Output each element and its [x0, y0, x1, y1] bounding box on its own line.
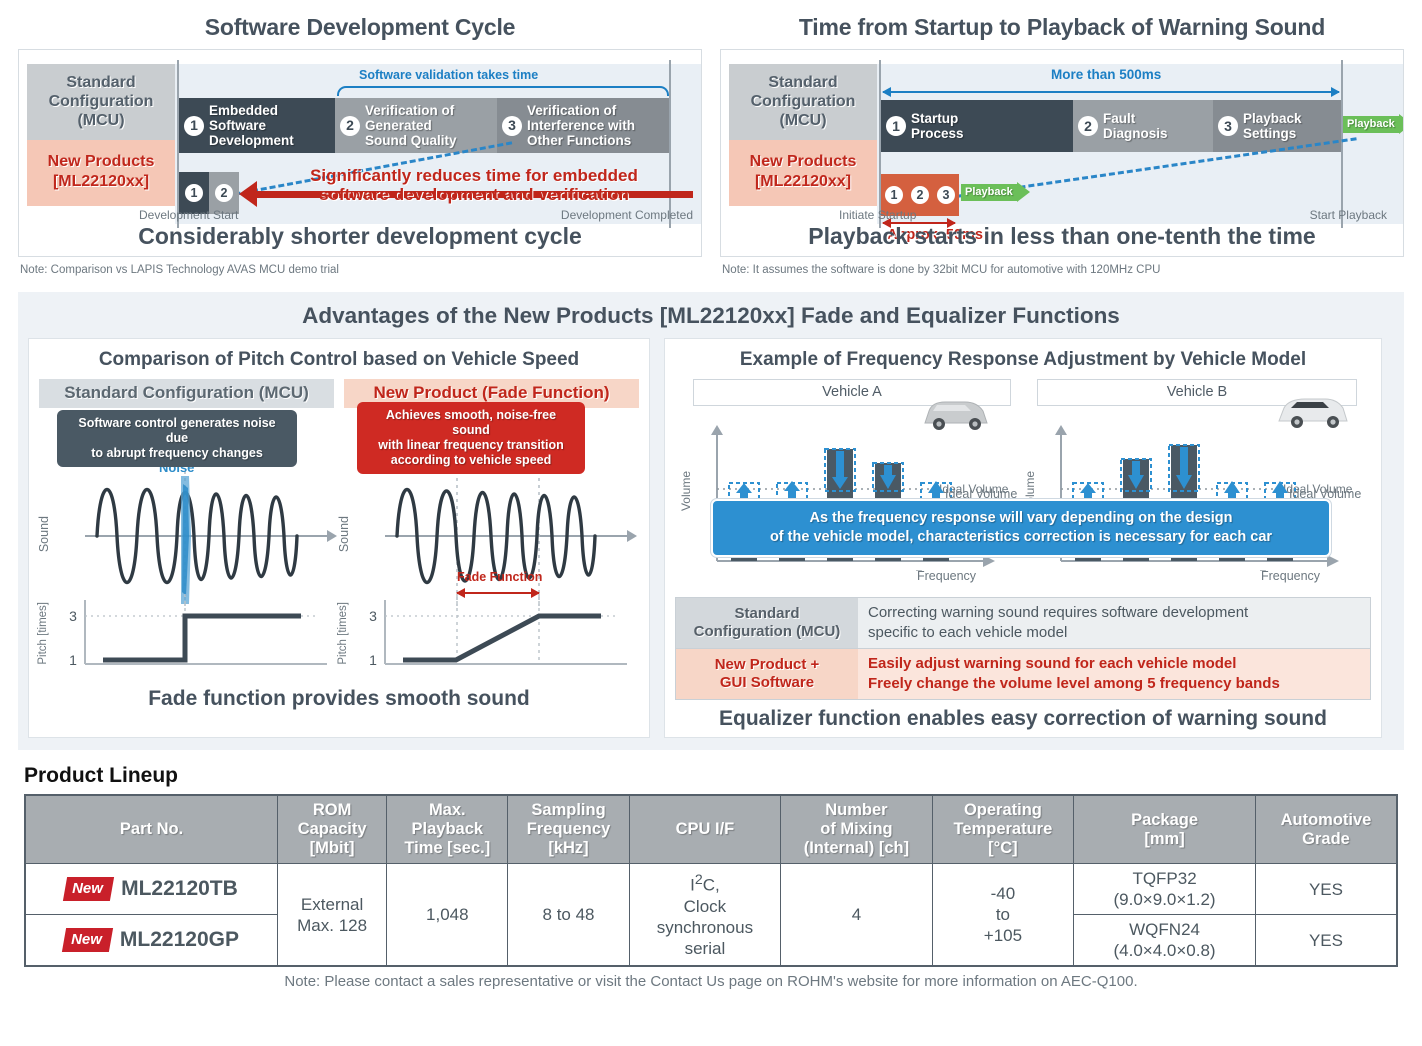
axis-label-frequency-a: Frequency [917, 569, 976, 583]
row-labels: Standard Configuration (MCU) New Product… [27, 64, 175, 206]
row-label-standard-2: Standard Configuration (MCU) [729, 64, 877, 140]
row-label-new-line2: [ML22120xx] [29, 172, 173, 192]
pitch-chart-fade: 3 1 [339, 594, 639, 680]
table-row-standard: Standard Configuration (MCU) Correcting … [676, 598, 1370, 649]
row-label-standard-eq: Standard Configuration (MCU) [676, 598, 858, 648]
table-header-row: Part No. ROM Capacity [Mbit] Max. Playba… [25, 795, 1397, 864]
software-development-cycle-panel: Software Development Cycle Standard Conf… [18, 14, 702, 276]
playback-arrow-standard: Playback [1343, 114, 1404, 134]
row-text-new-eq: Easily adjust warning sound for each veh… [858, 649, 1370, 699]
playback-label-standard: Playback [1343, 116, 1399, 133]
new-startup-number-2: 2 [911, 186, 929, 204]
axis-label-pitch-standard: Pitch [times] [37, 602, 49, 670]
phase-number-1: 1 [184, 116, 204, 136]
startup-number-1: 1 [886, 116, 906, 136]
playback-label-new: Playback [961, 184, 1017, 201]
equalizer-subtitle: Example of Frequency Response Adjustment… [675, 349, 1371, 371]
col-header-rom-capacity: ROM Capacity [Mbit] [278, 795, 387, 864]
col-header-number-of-mixing: Number of Mixing (Internal) [ch] [781, 795, 933, 864]
col-header-operating-temperature: Operating Temperature [°C] [932, 795, 1073, 864]
panel-caption-startup: Playback starts in less than one-tenth t… [721, 223, 1403, 250]
axis-label-volume-a: Volume [679, 471, 693, 516]
part-number-1: ML22120TB [121, 877, 238, 900]
row-label-standard-line2: Configuration [29, 92, 173, 111]
new-startup-block-3: 3 [933, 174, 959, 216]
row-label-new-products-2: New Products [ML22120xx] [729, 140, 877, 206]
reduction-arrow-head [239, 181, 257, 207]
part-number-2: ML22120GP [120, 928, 239, 951]
callout-standard-noise: Software control generates noise due to … [57, 410, 297, 467]
row-label-standard-line1: Standard [29, 73, 173, 92]
cell-rom-capacity: External Max. 128 [278, 864, 387, 967]
col-header-cpu-if: CPU I/F [629, 795, 781, 864]
pitch-chart-standard: 3 1 [39, 594, 339, 680]
col-header-part-no: Part No. [25, 795, 278, 864]
phase-block-2: 2 Verification of Generated Sound Qualit… [335, 98, 497, 153]
cell-max-playback-time: 1,048 [387, 864, 508, 967]
new-startup-number-3: 3 [937, 186, 955, 204]
validation-brace [337, 86, 669, 96]
row-label-new-line1: New Products [29, 152, 173, 172]
playback-guideline [1341, 60, 1343, 228]
axis-label-frequency-b: Frequency [1261, 569, 1320, 583]
startup-number-2: 2 [1078, 116, 1098, 136]
cell-sampling-frequency: 8 to 48 [508, 864, 629, 967]
startup-to-playback-panel: Time from Startup to Playback of Warning… [720, 14, 1404, 276]
phase-block-3: 3 Verification of Interference with Othe… [497, 98, 669, 153]
new-badge-1: New [63, 877, 114, 901]
callout-frequency-response: As the frequency response will vary depe… [711, 499, 1331, 557]
panel-note-startup: Note: It assumes the software is done by… [720, 264, 1404, 276]
svg-text:1: 1 [369, 652, 377, 668]
equalizer-charts-area: Vehicle A Ideal Volume [675, 379, 1371, 591]
cell-part-no-2: NewML22120GP [25, 915, 278, 967]
axis-label-pitch-fade: Pitch [times] [337, 602, 349, 670]
panel-caption-dev-cycle: Considerably shorter development cycle [19, 223, 701, 250]
startup-block-2: 2 Fault Diagnosis [1073, 100, 1213, 152]
row-label-new-products: New Products [ML22120xx] [27, 140, 175, 206]
equalizer-panel-caption: Equalizer function enables easy correcti… [675, 707, 1371, 731]
startup-label-2: Fault Diagnosis [1103, 111, 1168, 141]
sound-waveform-fade [339, 458, 639, 608]
svg-text:1: 1 [69, 652, 77, 668]
advantages-title: Advantages of the New Products [ML22120x… [28, 303, 1394, 329]
startup-number-3: 3 [1218, 116, 1238, 136]
pitch-charts-area: Sound Noise Software control generates n… [39, 412, 639, 680]
axis-label-dev-completed: Development Completed [561, 208, 693, 222]
new-badge-2: New [62, 928, 113, 952]
new-startup-number-1: 1 [885, 186, 903, 204]
panel-title-2: Time from Startup to Playback of Warning… [720, 14, 1404, 41]
row-labels-2: Standard Configuration (MCU) New Product… [729, 64, 877, 206]
phase-number-2: 2 [340, 116, 360, 136]
cell-operating-temperature: -40 to +105 [932, 864, 1073, 967]
startup-label-1: Startup Process [911, 111, 964, 141]
equalizer-panel: Example of Frequency Response Adjustment… [664, 338, 1382, 738]
phase-number-3: 3 [502, 116, 522, 136]
advantages-section: Advantages of the New Products [ML22120x… [18, 292, 1404, 750]
table-row-new-product: New Product + GUI Software Easily adjust… [676, 649, 1370, 699]
phase-block-1: 1 Embedded Software Development [179, 98, 335, 153]
pitch-control-panel: Comparison of Pitch Control based on Veh… [28, 338, 650, 738]
col-header-max-playback-time: Max. Playback Time [sec.] [387, 795, 508, 864]
phase-label-1: Embedded Software Development [209, 103, 294, 148]
timeline-chart-startup: Standard Configuration (MCU) New Product… [720, 49, 1404, 257]
axis-label-start-playback: Start Playback [1310, 208, 1387, 222]
new-phase-number-2: 2 [215, 184, 233, 202]
lineup-footer-note: Note: Please contact a sales representat… [0, 973, 1422, 990]
equalizer-comparison-table: Standard Configuration (MCU) Correcting … [675, 597, 1371, 700]
callout-new-fade: Achieves smooth, noise-free sound with l… [357, 402, 585, 474]
timeline-chart-dev-cycle: Standard Configuration (MCU) New Product… [18, 49, 702, 257]
cell-package-2: WQFN24 (4.0×4.0×0.8) [1074, 915, 1256, 967]
col-header-sampling-frequency: Sampling Frequency [kHz] [508, 795, 629, 864]
row-label-standard: Standard Configuration (MCU) [27, 64, 175, 140]
playback-arrow-head-new [1017, 182, 1030, 202]
new-phase-number-1: 1 [185, 184, 203, 202]
cell-number-of-mixing: 4 [781, 864, 933, 967]
svg-text:3: 3 [69, 608, 77, 624]
validation-brace-label: Software validation takes time [359, 68, 538, 82]
col-header-package: Package [mm] [1074, 795, 1256, 864]
product-lineup-title: Product Lineup [24, 764, 1422, 788]
span-label-500ms: More than 500ms [1051, 67, 1161, 82]
col-header-automotive-grade: Automotive Grade [1255, 795, 1397, 864]
axis-label-dev-start: Development Start [139, 208, 238, 222]
pitch-control-subtitle: Comparison of Pitch Control based on Veh… [39, 349, 639, 371]
span-arrow-500ms [883, 91, 1339, 93]
cpu-if-line1: I2C, [634, 870, 777, 896]
axis-label-initiate-startup: Initiate Startup [839, 208, 916, 222]
product-lineup-table: Part No. ROM Capacity [Mbit] Max. Playba… [24, 794, 1398, 967]
header-standard-config: Standard Configuration (MCU) [39, 379, 334, 408]
panel-note-dev-cycle: Note: Comparison vs LAPIS Technology AVA… [18, 264, 702, 276]
phase-label-2: Verification of Generated Sound Quality [365, 103, 457, 148]
axis-label-sound-fade: Sound [337, 516, 351, 557]
row-label-standard-line3: (MCU) [29, 111, 173, 130]
fade-function-label: Fade Function [457, 570, 542, 584]
cell-automotive-grade-2: YES [1255, 915, 1397, 967]
sound-waveform-standard [39, 458, 339, 608]
phase-label-3: Verification of Interference with Other … [527, 103, 635, 148]
playback-arrow-head-standard [1399, 114, 1404, 134]
row-text-standard-eq: Correcting warning sound requires softwa… [858, 598, 1370, 648]
cell-package-1: TQFP32 (9.0×9.0×1.2) [1074, 864, 1256, 915]
axis-label-sound-standard: Sound [37, 516, 51, 557]
cell-part-no-1: NewML22120TB [25, 864, 278, 915]
svg-text:3: 3 [369, 608, 377, 624]
row-label-new-eq: New Product + GUI Software [676, 649, 858, 699]
pitch-panel-caption: Fade function provides smooth sound [39, 687, 639, 711]
panel-title: Software Development Cycle [18, 14, 702, 41]
cell-cpu-if: I2C, Clock synchronous serial [629, 864, 781, 967]
infographic-page: Software Development Cycle Standard Conf… [0, 0, 1422, 1046]
table-row: NewML22120TB External Max. 128 1,048 8 t… [25, 864, 1397, 915]
playback-arrow-new: Playback [961, 182, 1030, 202]
fade-function-arrow [457, 592, 539, 594]
top-panels-row: Software Development Cycle Standard Conf… [0, 0, 1422, 276]
reduction-message: Significantly reduces time for embedded … [269, 166, 679, 204]
startup-block-1: 1 Startup Process [881, 100, 1073, 152]
cell-automotive-grade-1: YES [1255, 864, 1397, 915]
startup-label-3: Playback Settings [1243, 111, 1302, 141]
